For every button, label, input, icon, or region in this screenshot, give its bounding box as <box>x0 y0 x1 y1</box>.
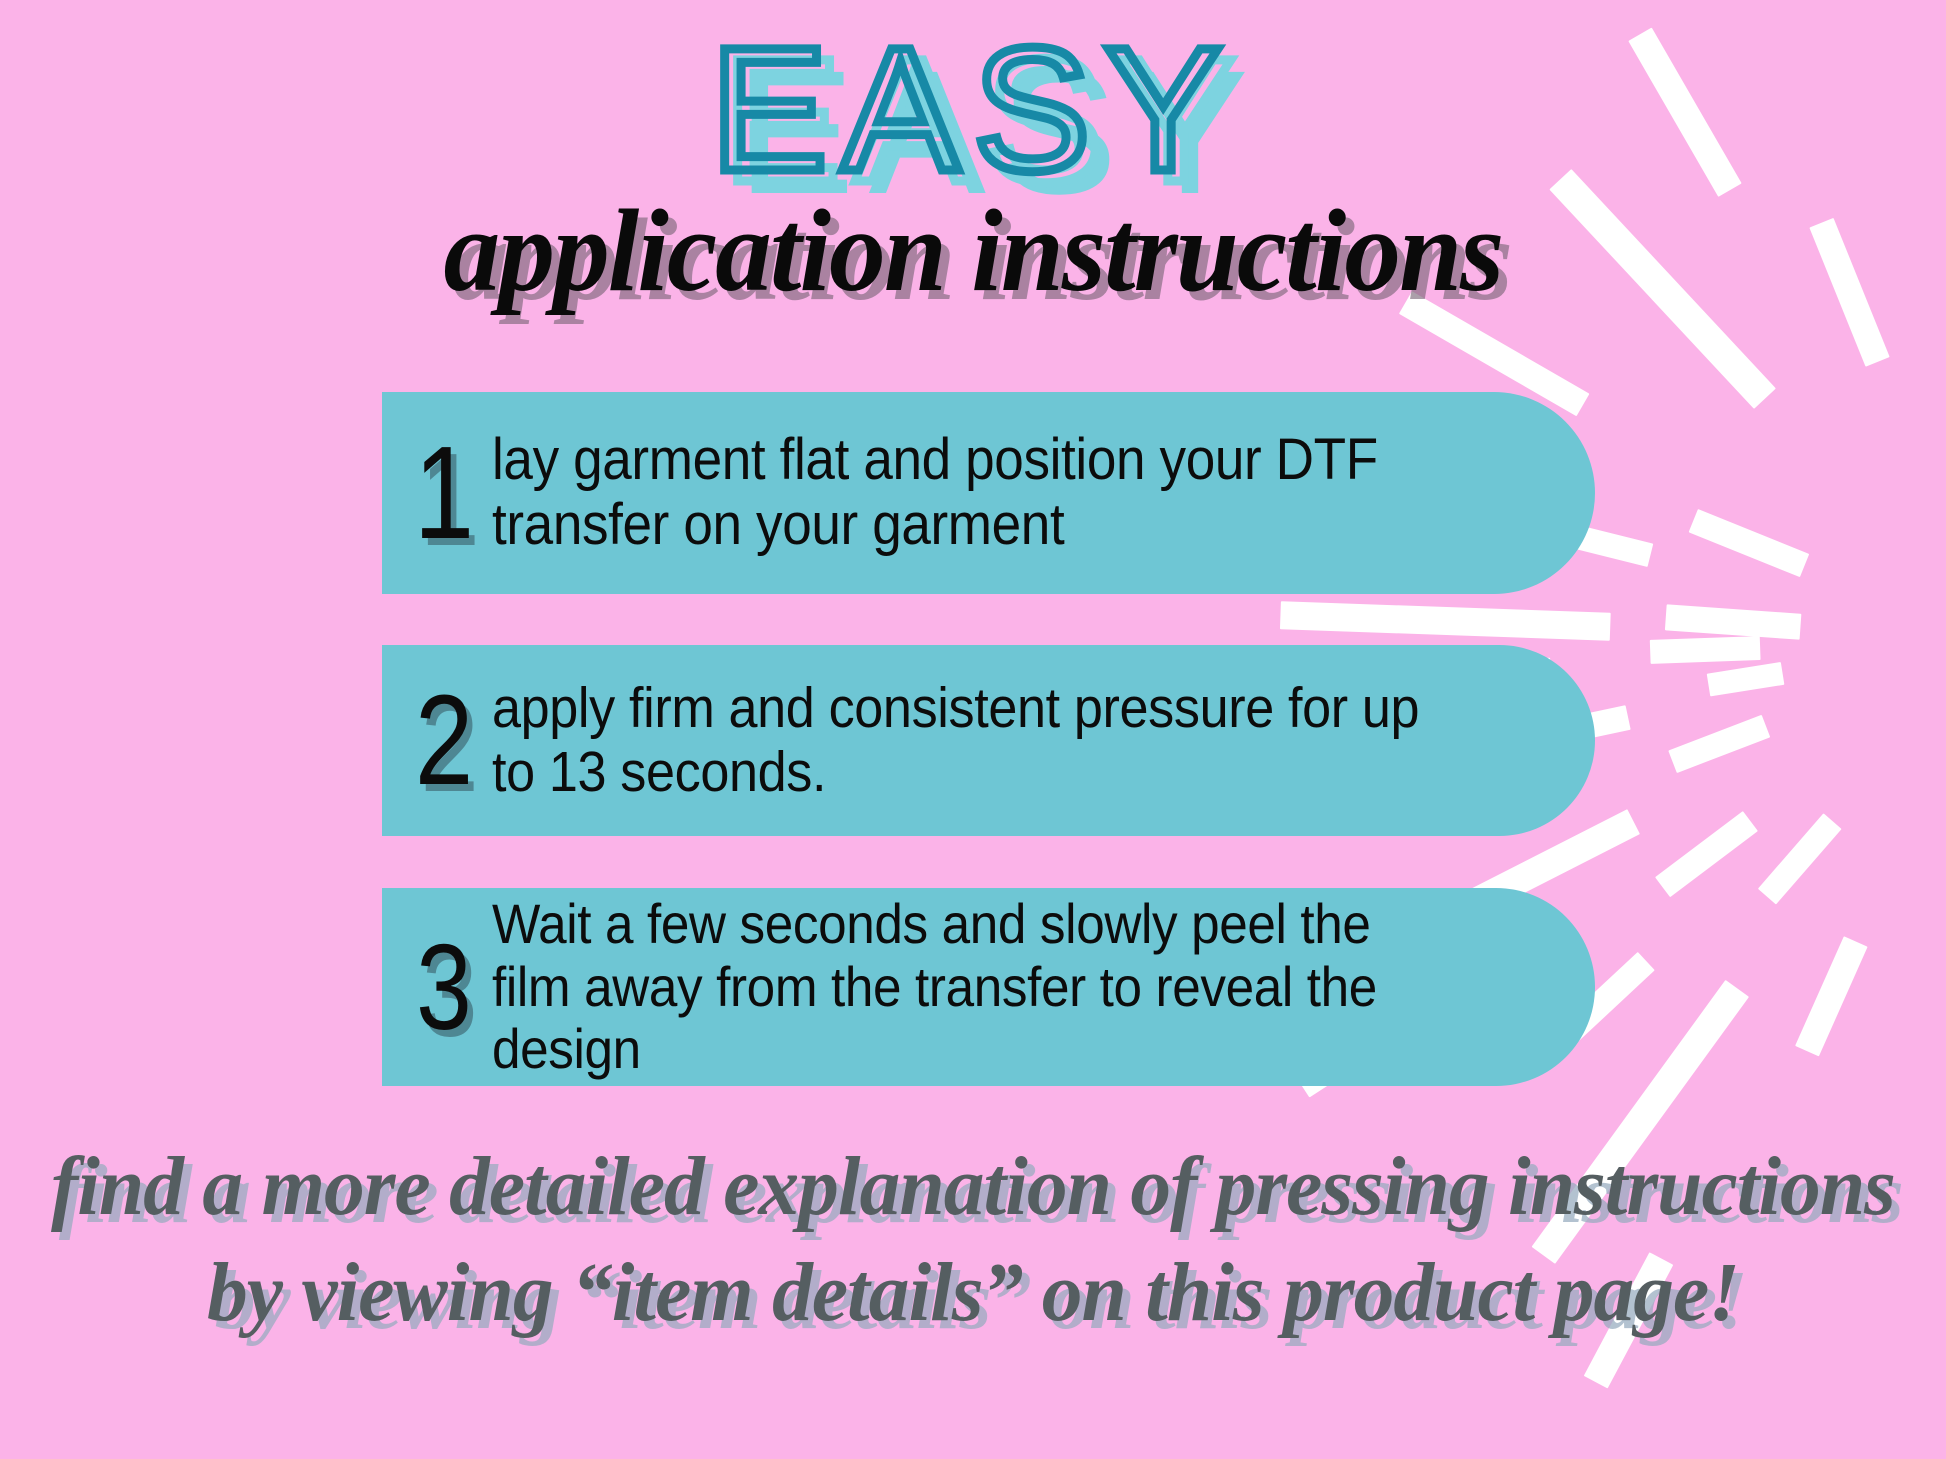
step-text-2: apply firm and consistent pressure for u… <box>492 677 1501 805</box>
footer-line-1: find a more detailed explanation of pres… <box>29 1140 1917 1234</box>
footer-note: find a more detailed explanation of pres… <box>0 1140 1946 1340</box>
step-text-3: Wait a few seconds and slowly peel the f… <box>492 893 1501 1081</box>
sunburst-ray <box>1707 661 1785 695</box>
poster-canvas: EASY EASY application instructions 1 lay… <box>0 0 1946 1459</box>
footer-line-2: by viewing “item details” on this produc… <box>29 1246 1917 1340</box>
sunburst-ray <box>1795 936 1868 1056</box>
step-item-2: 2 apply firm and consistent pressure for… <box>382 645 1595 836</box>
sunburst-ray <box>1665 604 1801 639</box>
page-title-text: EASY <box>710 12 1236 208</box>
sunburst-ray <box>1650 636 1761 664</box>
step-number-3: 3 <box>405 926 484 1048</box>
step-item-3: 3 Wait a few seconds and slowly peel the… <box>382 888 1595 1086</box>
page-subtitle: application instructions <box>39 192 1907 310</box>
header: EASY EASY <box>0 0 1946 198</box>
sunburst-ray <box>1280 601 1611 640</box>
step-number-2: 2 <box>405 677 484 805</box>
step-item-1: 1 lay garment flat and position your DTF… <box>382 392 1595 594</box>
step-text-1: lay garment flat and position your DTF t… <box>492 428 1501 558</box>
step-number-1: 1 <box>405 427 484 559</box>
page-title: EASY EASY <box>0 0 1946 198</box>
sunburst-ray <box>1668 715 1770 773</box>
sunburst-ray <box>1689 509 1810 577</box>
sunburst-ray <box>1758 813 1842 904</box>
sunburst-ray <box>1655 811 1758 897</box>
